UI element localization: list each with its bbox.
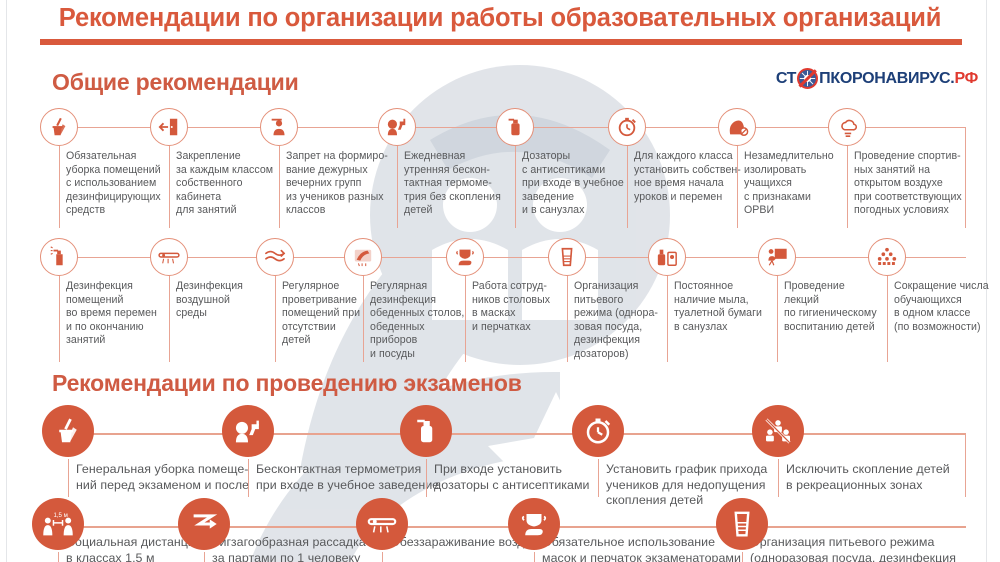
timeline-caption: Организация питьевого режима (однора- зо… [574,280,676,362]
timeline-caption: Дезинфекция помещений во время перемен и… [66,280,170,348]
timeline-tick [68,459,69,497]
timeline-caption: Закрепление за каждым классом собственно… [176,150,286,218]
uv-lamp-icon [157,248,181,266]
virus-ban-icon [797,68,818,89]
timeline-node[interactable] [260,108,298,146]
logo-text-koronavirus: КОРОНАВИРУС. [830,71,954,87]
timeline-caption: Регулярная дезинфекция обеденных столов,… [370,280,478,362]
no-crowd-icon [763,416,793,446]
door-enter-icon [158,116,180,138]
timeline-tick [169,146,170,228]
stopwatch-icon [583,416,613,446]
timeline-node[interactable] [718,108,756,146]
timeline-row-exams-1: Генеральная уборка помеще- ний перед экз… [0,405,1000,495]
timeline-node[interactable] [752,405,804,457]
stopcoronavirus-logo[interactable]: СТ П КОРОНАВИРУС. РФ [776,68,978,89]
timeline-tick [515,146,516,228]
timeline-node[interactable] [222,405,274,457]
timeline-tick [426,459,427,497]
mask-gloves-icon [519,509,549,539]
soap-paper-icon [655,246,679,268]
head-isolate-icon [726,116,749,138]
timeline-caption: Дезинфекция воздушной среды [176,280,276,321]
lecture-board-icon [766,246,789,268]
timeline-tick [737,146,738,228]
mop-bucket-icon [53,416,83,446]
timeline-node[interactable] [178,498,230,550]
logo-text-rf: РФ [954,71,978,87]
timeline-caption: Постоянное наличие мыла, туалетной бумаг… [674,280,784,334]
timeline-node[interactable]: 1,5 м [32,498,84,550]
distance-label: 1,5 м [53,512,67,519]
section-heading-exams: Рекомендации по проведению экзаменов [52,370,522,397]
zigzag-seating-icon [189,511,219,537]
timeline-tick [742,552,743,562]
timeline-tick [887,276,888,362]
timeline-tick [598,459,599,497]
spray-bottle-icon [49,246,69,268]
soap-dispenser-icon [413,416,439,446]
timeline-caption: Работа сотруд- ников столовых в масках и… [472,280,574,334]
timeline-end-tick [965,433,966,497]
timeline-node[interactable] [40,238,78,276]
timeline-tick [397,146,398,228]
timeline-tick [169,276,170,362]
timeline-tick [465,276,466,362]
infographic-page: Рекомендации по организации работы образ… [0,0,1000,562]
stopwatch-icon [616,116,638,138]
no-person-icon [268,116,290,138]
timeline-caption: Незамедлительно изолировать учащихся с п… [744,150,852,218]
logo-text-ct: СТ [776,71,796,87]
mop-bucket-icon [48,116,70,138]
timeline-tick [279,146,280,228]
timeline-node[interactable] [378,108,416,146]
timeline-node[interactable] [608,108,646,146]
timeline-caption: Запрет на формиро- вание дежурных вечерн… [286,150,398,218]
timeline-tick [248,459,249,497]
timeline-caption: Обязательная уборка помещений с использо… [66,150,170,218]
water-glass-icon [730,509,754,539]
timeline-tick [58,552,59,562]
timeline-node[interactable] [446,238,484,276]
timeline-caption: Исключить скопление детей в рекреационны… [786,462,986,493]
social-distance-icon: 1,5 м [41,510,75,538]
mask-gloves-icon [454,246,476,268]
logo-text-p: П [819,71,830,87]
timeline-tick [777,276,778,362]
timeline-node[interactable] [868,238,906,276]
timeline-node[interactable] [572,405,624,457]
fresh-air-icon [836,116,859,138]
timeline-tick [534,552,535,562]
section-heading-general: Общие рекомендации [52,69,299,96]
timeline-tick [778,459,779,497]
timeline-tick [59,146,60,228]
timeline-node[interactable] [716,498,768,550]
soap-dispenser-icon [505,116,525,138]
timeline-node[interactable] [256,238,294,276]
timeline-node[interactable] [758,238,796,276]
timeline-caption: Генеральная уборка помеще- ний перед экз… [76,462,281,493]
timeline-row-general-2: Дезинфекция помещений во время перемен и… [0,238,1000,363]
timeline-tick [59,276,60,362]
timeline-caption: Регулярное проветривание помещений при о… [282,280,382,348]
timeline-node[interactable] [150,108,188,146]
uv-lamp-icon [366,512,398,536]
timeline-node[interactable] [828,108,866,146]
timeline-tick [275,276,276,362]
thermometer-gun-icon [232,417,264,446]
timeline-tick [363,276,364,362]
timeline-node[interactable] [344,238,382,276]
water-glass-icon [558,246,576,268]
timeline-caption: Сокращение числа обучающихся в одном кла… [894,280,1000,334]
timeline-row-exams-2: 1,5 м Социальная дистанция в классах 1,5… [0,498,1000,562]
timeline-node[interactable] [356,498,408,550]
timeline-caption: Ежедневная утренняя бескон- тактная терм… [404,150,516,218]
timeline-tick [627,146,628,228]
air-flow-icon [263,247,287,267]
timeline-tick [204,552,205,562]
timeline-end-tick [965,127,966,228]
page-title: Рекомендации по организации работы образ… [0,4,1000,33]
timeline-caption: При входе установить дозаторы с антисепт… [434,462,624,493]
reduce-class-icon [875,246,899,268]
timeline-tick [567,276,568,362]
timeline-caption: Проведение лекций по гигиеническому восп… [784,280,902,334]
timeline-node[interactable] [150,238,188,276]
timeline-tick [667,276,668,362]
timeline-tick [382,552,383,562]
title-divider [40,39,962,45]
timeline-caption: Для каждого класса установить собствен- … [634,150,752,204]
timeline-node[interactable] [40,108,78,146]
timeline-caption: Дозаторы с антисептиками при входе в уче… [522,150,634,218]
timeline-node[interactable] [42,405,94,457]
timeline-node[interactable] [496,108,534,146]
timeline-node[interactable] [648,238,686,276]
wipe-table-icon [352,247,374,267]
timeline-node[interactable] [508,498,560,550]
timeline-caption: Проведение спортив- ных занятий на откры… [854,150,976,218]
thermometer-gun-icon [385,116,409,138]
timeline-node[interactable] [548,238,586,276]
timeline-axis [48,433,966,435]
timeline-node[interactable] [400,405,452,457]
timeline-tick [847,146,848,228]
timeline-caption: Организация питьевого режима (одноразова… [750,535,990,562]
timeline-row-general-1: Обязательная уборка помещений с использо… [0,108,1000,228]
